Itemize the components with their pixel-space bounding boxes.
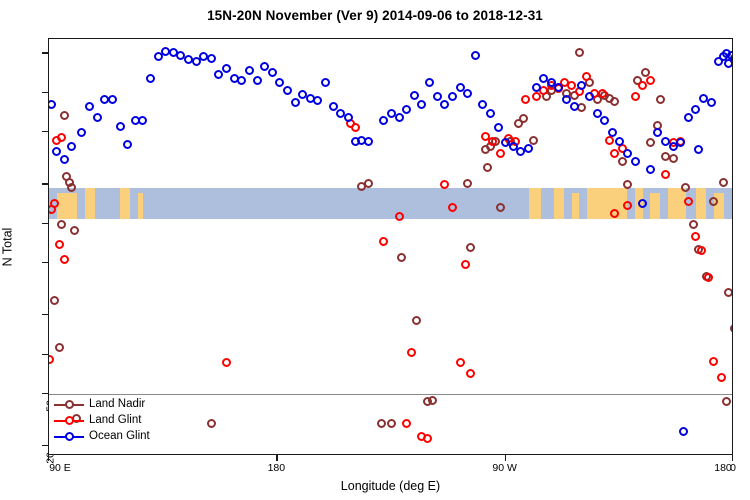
scatter-point — [377, 419, 386, 428]
scatter-point — [471, 51, 480, 60]
x-axis-tick — [276, 455, 277, 461]
scatter-point — [585, 92, 594, 101]
scatter-point — [646, 76, 655, 85]
scatter-point — [709, 197, 718, 206]
scatter-point — [577, 81, 586, 90]
scatter-point — [402, 105, 411, 114]
scatter-point — [67, 183, 76, 192]
scatter-point — [631, 157, 640, 166]
scatter-point — [691, 105, 700, 114]
scatter-point — [656, 95, 665, 104]
scatter-point — [684, 113, 693, 122]
scatter-point — [433, 92, 442, 101]
scatter-point — [448, 203, 457, 212]
legend-item-land-nadir[interactable]: Land Nadir — [52, 396, 150, 412]
scatter-point — [691, 232, 700, 241]
scatter-point — [496, 203, 505, 212]
scatter-point — [653, 128, 662, 137]
scatter-point — [519, 114, 528, 123]
scatter-point — [638, 199, 647, 208]
scatter-point — [379, 237, 388, 246]
scatter-point — [329, 102, 338, 111]
scatter-point — [60, 255, 69, 264]
scatter-point — [70, 226, 79, 235]
scatter-points-layer — [49, 39, 732, 454]
scatter-point — [222, 358, 231, 367]
scatter-point — [529, 136, 538, 145]
scatter-point — [207, 54, 216, 63]
scatter-point — [681, 183, 690, 192]
x-axis-tick-label: 90 W — [492, 462, 517, 474]
scatter-point — [67, 142, 76, 151]
y-axis-title-text: N Total — [0, 227, 14, 266]
y-axis-title: N Total — [0, 38, 16, 455]
scatter-point — [719, 178, 728, 187]
scatter-point — [108, 95, 117, 104]
scatter-point — [283, 86, 292, 95]
scatter-point — [138, 116, 147, 125]
scatter-point — [646, 165, 655, 174]
scatter-point — [623, 180, 632, 189]
scatter-point — [60, 155, 69, 164]
scatter-point — [397, 253, 406, 262]
scatter-point — [730, 324, 734, 333]
scatter-point — [661, 170, 670, 179]
scatter-point — [724, 288, 733, 297]
x-axis-tick-label: 180 — [268, 462, 286, 474]
scatter-point — [77, 128, 86, 137]
scatter-point — [93, 113, 102, 122]
scatter-point — [466, 243, 475, 252]
scatter-point — [364, 179, 373, 188]
plot-area — [48, 38, 733, 455]
scatter-point — [50, 296, 59, 305]
scatter-point — [412, 316, 421, 325]
x-axis-tick — [48, 455, 49, 461]
scatter-point — [570, 102, 579, 111]
scatter-point — [410, 91, 419, 100]
scatter-point — [724, 59, 733, 68]
scatter-point — [313, 96, 322, 105]
scatter-point — [60, 111, 69, 120]
scatter-point — [48, 355, 54, 364]
scatter-point — [483, 163, 492, 172]
scatter-point — [207, 419, 216, 428]
legend-item-land-glint[interactable]: Land Glint — [52, 412, 150, 428]
scatter-point — [407, 348, 416, 357]
scatter-point — [55, 343, 64, 352]
chart-canvas: 15N-20N November (Ver 9) 2014-09-06 to 2… — [0, 0, 750, 500]
scatter-point — [709, 357, 718, 366]
scatter-point — [600, 116, 609, 125]
scatter-point — [694, 145, 703, 154]
chart-legend: Land NadirLand GlintOcean Glint — [52, 396, 150, 444]
scatter-point — [486, 109, 495, 118]
scatter-point — [50, 199, 59, 208]
scatter-point — [321, 78, 330, 87]
scatter-point — [440, 100, 449, 109]
legend-item-label: Land Glint — [86, 414, 141, 426]
scatter-point — [689, 220, 698, 229]
scatter-point — [423, 397, 432, 406]
scatter-point — [684, 197, 693, 206]
x-axis-tick — [505, 455, 506, 461]
legend-marker-icon — [52, 428, 86, 444]
scatter-point — [623, 149, 632, 158]
scatter-point — [532, 83, 541, 92]
legend-item-ocean-glint[interactable]: Ocean Glint — [52, 428, 150, 444]
x-axis-tick-label: 180 — [714, 462, 732, 474]
scatter-point — [456, 358, 465, 367]
scatter-point — [222, 64, 231, 73]
scatter-point — [402, 419, 411, 428]
scatter-point — [646, 138, 655, 147]
scatter-point — [351, 123, 360, 132]
legend-marker-icon — [52, 396, 86, 412]
chart-title: 15N-20N November (Ver 9) 2014-09-06 to 2… — [0, 8, 750, 23]
scatter-point — [463, 89, 472, 98]
scatter-point — [466, 369, 475, 378]
scatter-point — [417, 100, 426, 109]
scatter-point — [697, 246, 706, 255]
scatter-point — [146, 74, 155, 83]
scatter-point — [669, 154, 678, 163]
legend-marker-icon — [52, 412, 86, 428]
scatter-point — [463, 179, 472, 188]
scatter-point — [478, 100, 487, 109]
scatter-point — [448, 92, 457, 101]
legend-item-label: Ocean Glint — [86, 430, 150, 442]
scatter-point — [707, 98, 716, 107]
x-axis-tick-label: 90 E — [49, 462, 71, 474]
scatter-point — [562, 95, 571, 104]
scatter-point — [608, 128, 617, 137]
scatter-point — [268, 68, 277, 77]
legend-item-label: Land Nadir — [86, 398, 145, 410]
scatter-point — [610, 209, 619, 218]
scatter-point — [610, 97, 619, 106]
scatter-point — [57, 220, 66, 229]
scatter-point — [364, 137, 373, 146]
scatter-point — [379, 116, 388, 125]
scatter-point — [631, 92, 640, 101]
scatter-point — [679, 427, 688, 436]
scatter-point — [524, 144, 533, 153]
x-axis-tick — [732, 455, 733, 461]
scatter-point — [575, 48, 584, 57]
scatter-point — [387, 419, 396, 428]
scatter-point — [48, 100, 56, 109]
x-axis-tick-labels: 90 E18090 W090 E180 — [48, 462, 733, 476]
scatter-point — [253, 76, 262, 85]
x-axis-title: Longitude (deg E) — [48, 479, 733, 493]
scatter-point — [245, 66, 254, 75]
scatter-point — [598, 89, 607, 98]
scatter-point — [623, 201, 632, 210]
scatter-point — [425, 78, 434, 87]
scatter-point — [55, 240, 64, 249]
scatter-point — [275, 78, 284, 87]
scatter-point — [704, 273, 713, 282]
scatter-point — [395, 113, 404, 122]
scatter-point — [123, 140, 132, 149]
scatter-point — [395, 212, 404, 221]
scatter-point — [440, 180, 449, 189]
scatter-point — [618, 157, 627, 166]
scatter-point — [494, 123, 503, 132]
scatter-point — [52, 147, 61, 156]
scatter-point — [496, 149, 505, 158]
scatter-point — [423, 434, 432, 443]
scatter-point — [291, 98, 300, 107]
scatter-point — [676, 138, 685, 147]
scatter-point — [85, 102, 94, 111]
scatter-point — [461, 260, 470, 269]
scatter-point — [722, 397, 731, 406]
scatter-point — [717, 373, 726, 382]
scatter-point — [521, 95, 530, 104]
scatter-point — [57, 133, 66, 142]
scatter-point — [237, 76, 246, 85]
scatter-point — [116, 122, 125, 131]
